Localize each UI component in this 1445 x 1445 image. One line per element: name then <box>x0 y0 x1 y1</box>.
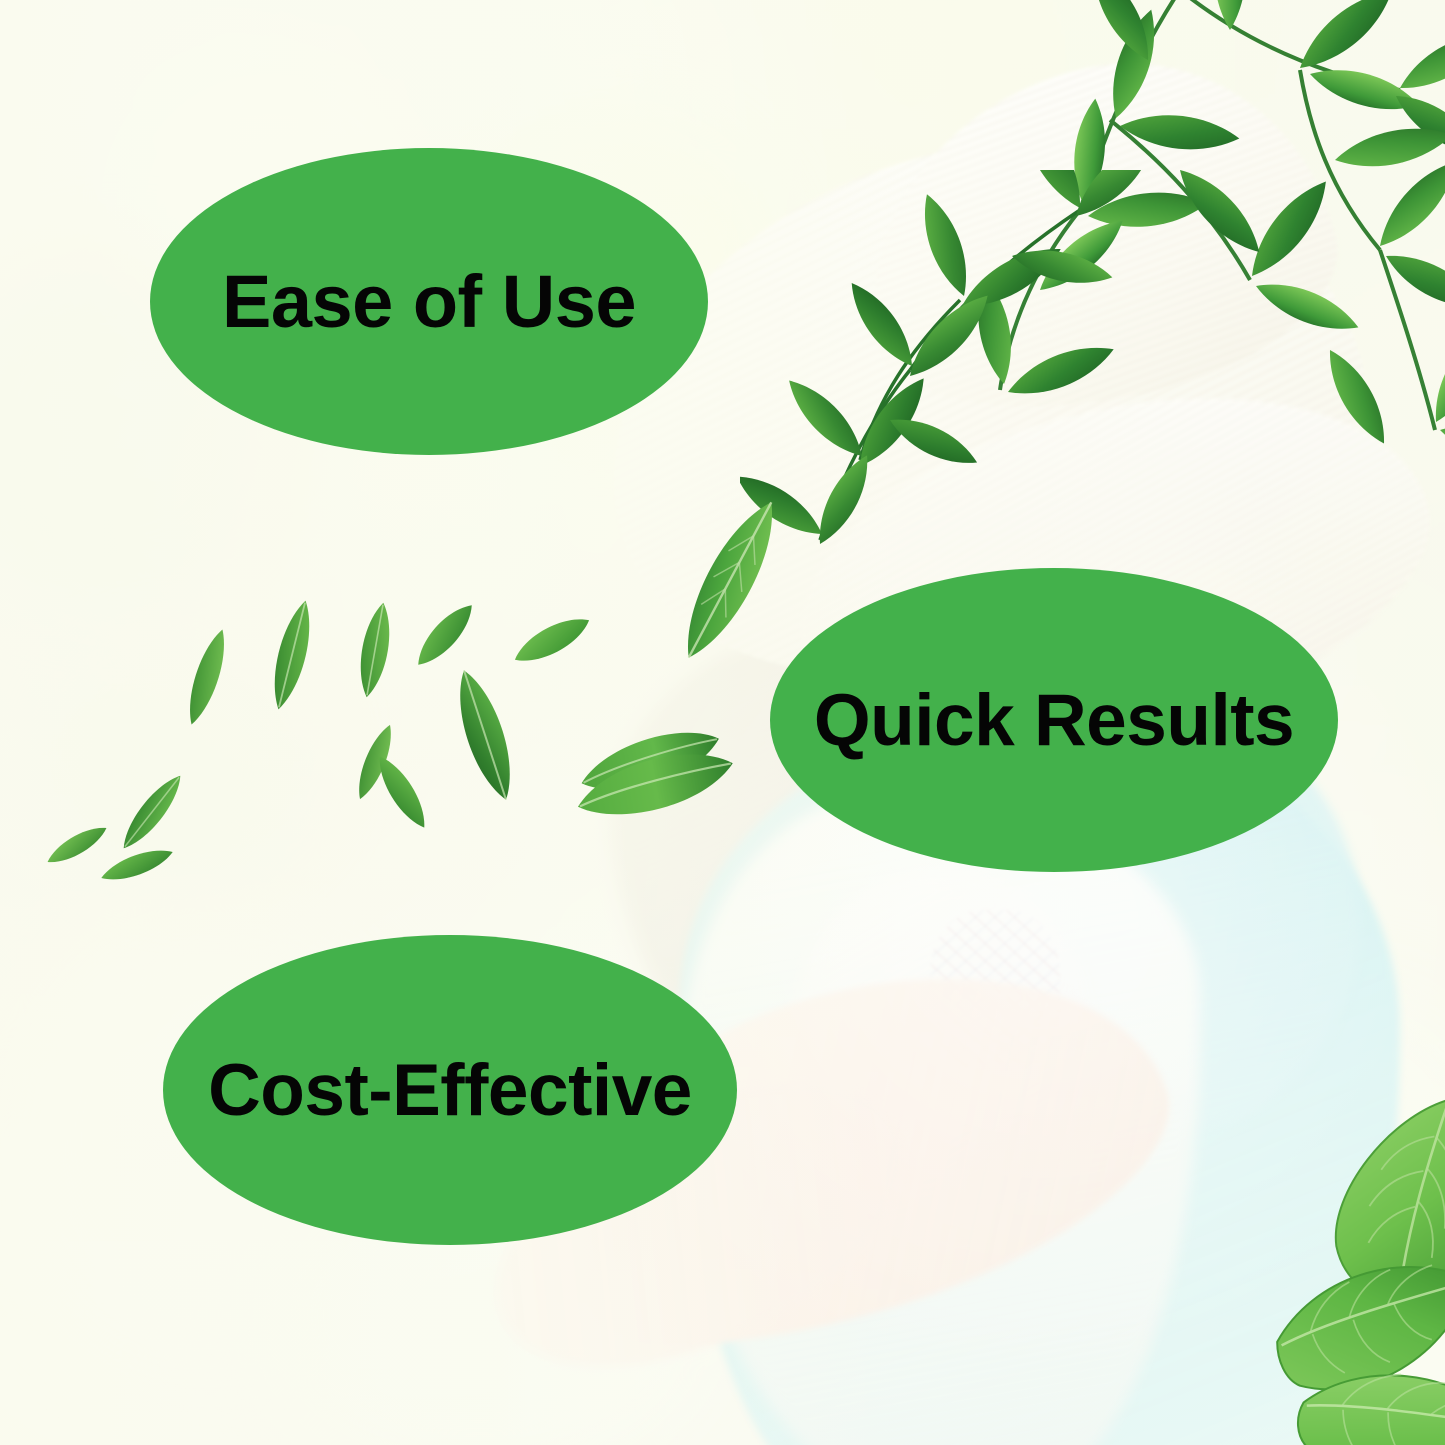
feature-badge-label: Quick Results <box>814 679 1294 762</box>
feature-badge-label: Ease of Use <box>222 259 636 344</box>
feature-badge-quick-results[interactable]: Quick Results <box>770 568 1338 872</box>
feature-badge-ease-of-use[interactable]: Ease of Use <box>150 148 708 455</box>
product-feature-graphic: Ease of Use Quick Results Cost-Effective <box>0 0 1445 1445</box>
feature-badge-label: Cost-Effective <box>208 1049 692 1132</box>
feature-badge-cost-effective[interactable]: Cost-Effective <box>163 935 737 1245</box>
